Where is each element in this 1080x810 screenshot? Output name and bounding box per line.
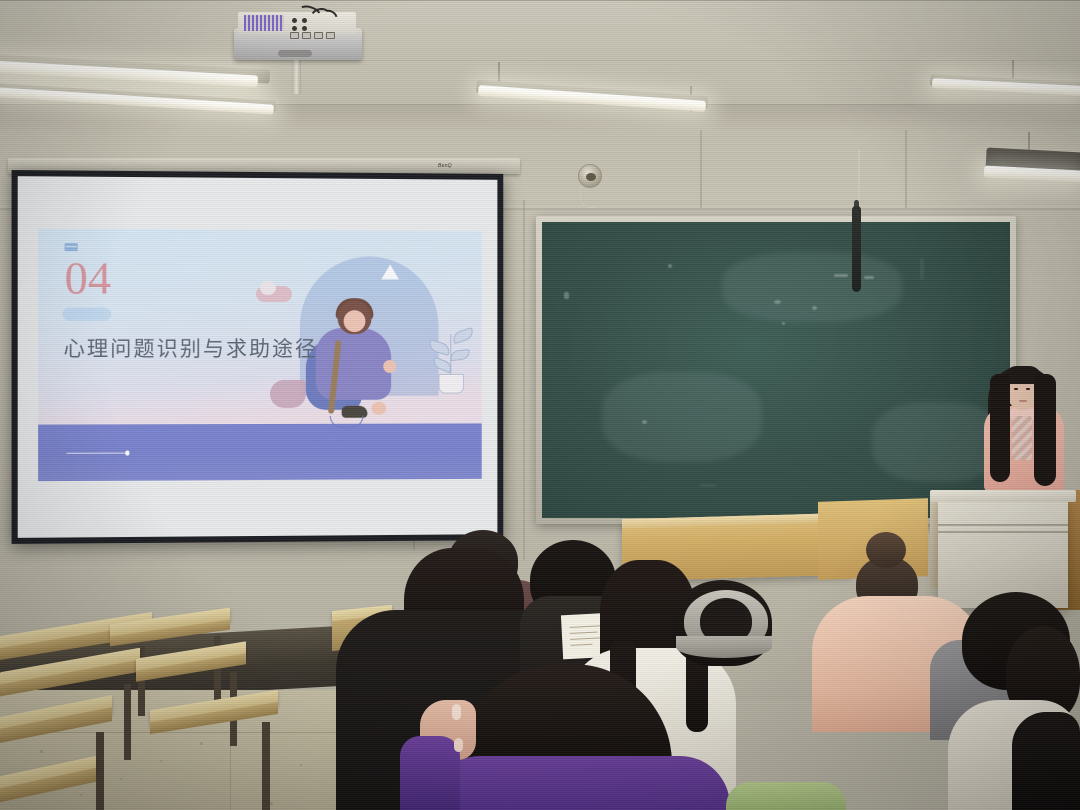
ceiling-beam [0,104,1080,130]
audience-torso [430,756,730,810]
slide-number-highlight [62,308,111,321]
projector-mount-pole [292,58,301,94]
slide-section-number: 04 [65,255,112,301]
slide-logo-icon [65,243,78,251]
slide-accent-rule [67,452,126,454]
wall-seam [905,130,907,208]
paper-plane-icon [381,264,399,279]
projector-lens [278,50,312,57]
audience-sleeve [400,736,460,810]
cap-brim [676,636,772,658]
ceiling-projector [234,10,362,60]
wall-seam [523,200,525,560]
audience-torso [726,782,846,810]
fingernail [452,704,461,720]
lectern [938,498,1068,608]
wall-speaker-icon [578,164,602,188]
wall-seam [700,130,702,208]
plant-pot [438,374,464,394]
speaker-cord [580,186,594,208]
projection-screen: · · · · 04 心理问题识别与求助途径 [12,170,504,544]
audience-torso [1012,712,1080,810]
chalkboard [536,216,1016,524]
slide-title: 心理问题识别与求助途径 [64,333,318,363]
slide-corner-text: · · · · [438,245,462,251]
presenter-scarf [1012,416,1032,460]
screen-brand-label: BenQ [438,163,452,169]
projector-vent [244,15,284,31]
presentation-slide: · · · · 04 心理问题识别与求助途径 [38,229,482,481]
hanging-microphone [852,206,861,292]
classroom-photo: BenQ [0,0,1080,810]
hair-bun [866,532,906,568]
fingernail [454,738,463,752]
